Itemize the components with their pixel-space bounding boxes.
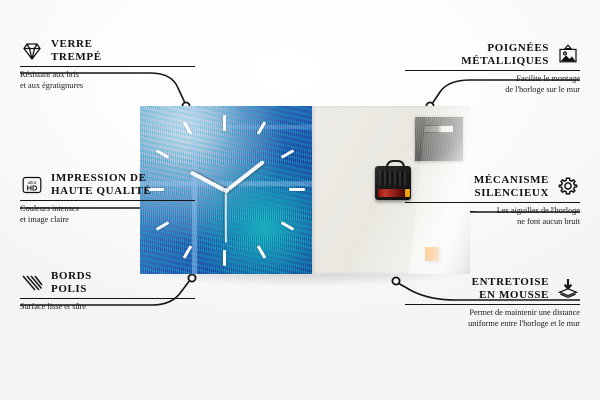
callout-title-line2: TREMPÉ xyxy=(51,51,102,64)
foam-spacer xyxy=(425,247,439,261)
callout-subtitle-line1: Surface lisse et sûre xyxy=(20,302,195,313)
callout-title-line1: IMPRESSION DE xyxy=(51,172,151,185)
callout-header: VERRE TREMPÉ xyxy=(20,38,195,63)
mechanism-vents xyxy=(379,171,407,185)
callout-title-line2: MÉTALLIQUES xyxy=(461,55,549,68)
polished-edge-icon xyxy=(20,271,44,295)
second-hand xyxy=(225,191,227,243)
callout-rule xyxy=(405,70,580,71)
diamond-icon xyxy=(20,39,44,63)
callout-subtitle-line1: Facilite le montage xyxy=(405,74,580,85)
callout-title-line2: POLIS xyxy=(51,283,92,296)
callout-rule xyxy=(20,298,195,299)
callout-rule xyxy=(405,202,580,203)
callout-header: ultra HD IMPRESSION DE HAUTE QUALITÉ xyxy=(20,172,195,197)
mechanism-loop xyxy=(386,160,405,171)
minute-hand xyxy=(225,160,265,193)
callout-verre-trempe: VERRE TREMPÉ Résistant aux bris et aux é… xyxy=(20,38,195,91)
gear-icon xyxy=(556,175,580,199)
callout-title-line1: ENTRETOISE xyxy=(472,276,549,289)
callout-subtitle-line1: Permet de maintenir une distance xyxy=(405,308,580,319)
callout-title-line1: MÉCANISME xyxy=(474,174,549,187)
callout-title-line2: SILENCIEUX xyxy=(474,187,549,200)
callout-title-line1: VERRE xyxy=(51,38,102,51)
ultra-hd-icon: ultra HD xyxy=(20,173,44,197)
callout-title-line2: HAUTE QUALITÉ xyxy=(51,185,151,198)
battery xyxy=(378,189,406,197)
callout-rule xyxy=(20,200,195,201)
callout-rule xyxy=(20,66,195,67)
callout-subtitle-line1: Résistant aux bris xyxy=(20,70,195,81)
hour-hand xyxy=(190,170,227,192)
callout-header: BORDS POLIS xyxy=(20,270,195,295)
callout-subtitle-line2: et aux égratignures xyxy=(20,81,195,92)
callout-subtitle-line2: et image claire xyxy=(20,215,195,226)
callout-bords-polis: BORDS POLIS Surface lisse et sûre xyxy=(20,270,195,313)
clock-hub xyxy=(224,188,229,193)
hanger-slot xyxy=(424,125,454,133)
callout-header: ENTRETOISE EN MOUSSE xyxy=(405,276,580,301)
callout-poignees-metalliques: POIGNÉES MÉTALLIQUES Facilite le montage… xyxy=(405,42,580,95)
callout-subtitle-line2: ne font aucun bruit xyxy=(405,217,580,228)
callout-subtitle-line1: Couleurs intenses xyxy=(20,204,195,215)
callout-impression-haute-qualite: ultra HD IMPRESSION DE HAUTE QUALITÉ Cou… xyxy=(20,172,195,225)
callout-entretoise-en-mousse: ENTRETOISE EN MOUSSE Permet de maintenir… xyxy=(405,276,580,329)
callout-title-line1: POIGNÉES xyxy=(461,42,549,55)
callout-title-line1: BORDS xyxy=(51,270,92,283)
callout-subtitle-line2: uniforme entre l'horloge et le mur xyxy=(405,319,580,330)
metal-hanger-plate xyxy=(415,117,463,161)
infographic-stage: VERRE TREMPÉ Résistant aux bris et aux é… xyxy=(0,0,600,400)
foam-spacer-icon xyxy=(556,277,580,301)
callout-subtitle-line1: Les aiguilles de l'horloge xyxy=(405,206,580,217)
callout-title-line2: EN MOUSSE xyxy=(472,289,549,302)
picture-hanger-icon xyxy=(556,43,580,67)
callout-subtitle-line2: de l'horloge sur le mur xyxy=(405,85,580,96)
callout-mecanisme-silencieux: MÉCANISME SILENCIEUX Les aiguilles de l'… xyxy=(405,174,580,227)
callout-rule xyxy=(405,304,580,305)
svg-text:HD: HD xyxy=(27,183,38,192)
callout-header: POIGNÉES MÉTALLIQUES xyxy=(405,42,580,67)
callout-header: MÉCANISME SILENCIEUX xyxy=(405,174,580,199)
